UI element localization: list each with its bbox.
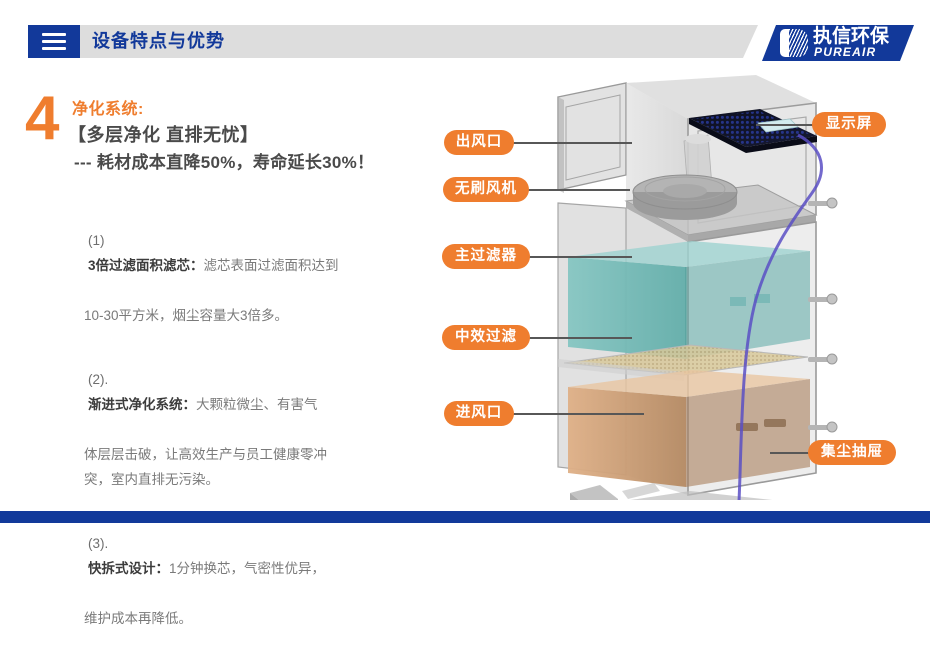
footer-bar [0, 511, 930, 523]
headline-primary: 【多层净化 直排无忧】 [68, 121, 259, 147]
product-diagram: 出风口 无刷风机 主过滤器 中效过滤 进风口 显示屏 集尘抽屉 [440, 75, 930, 500]
open-door-panel [558, 83, 626, 193]
list-item: (1) 3倍过滤面积滤芯：滤芯表面过滤面积达到 10-30平方米，烟尘容量大3倍… [58, 203, 428, 328]
main-filter-box [568, 241, 810, 359]
bullet-bold: 3倍过滤面积滤芯： [88, 258, 204, 273]
upper-chamber [626, 75, 816, 242]
bullet-cont-2: 突，室内直排无污染。 [58, 467, 428, 492]
connector-line-mid-filter [522, 337, 632, 339]
list-item: (3). 快拆式设计：1分钟换芯，气密性优异， 维护成本再降低。 [58, 506, 428, 631]
headline-secondary: --- 耗材成本直降50%，寿命延长30%！ [74, 148, 374, 173]
mid-efficiency-filter-box [568, 370, 810, 487]
page-title: 设备特点与优势 [92, 25, 225, 58]
callout-dust-drawer[interactable]: 集尘抽屉 [808, 440, 896, 465]
connector-line-drawer [770, 452, 812, 454]
callout-main-filter[interactable]: 主过滤器 [442, 244, 530, 269]
section-subtitle: 净化系统: [72, 95, 144, 119]
bullet-cont: 体层层击破，让高效生产与员工健康零冲 [58, 442, 428, 467]
callout-air-outlet[interactable]: 出风口 [444, 130, 514, 155]
bullet-index: (1) [88, 233, 105, 248]
bullet-rest: 滤芯表面过滤面积达到 [204, 258, 339, 273]
hamburger-menu-icon[interactable] [28, 25, 80, 58]
connector-line-display [756, 124, 818, 126]
bullet-index: (2). [88, 372, 108, 387]
callout-mid-filter[interactable]: 中效过滤 [442, 325, 530, 350]
connector-line-main-filter [522, 256, 632, 258]
bullet-cont: 10-30平方米，烟尘容量大3倍多。 [58, 303, 428, 328]
callout-display-screen[interactable]: 显示屏 [812, 112, 886, 137]
air-inlet-duct [570, 483, 660, 500]
callout-air-inlet[interactable]: 进风口 [444, 401, 514, 426]
bullet-list: (1) 3倍过滤面积滤芯：滤芯表面过滤面积达到 10-30平方米，烟尘容量大3倍… [58, 203, 428, 645]
connector-line-blower [520, 189, 630, 191]
slide-root: 设备特点与优势 执信环保 PUREAIR 4 净化系统: 【多层净化 直排无忧】… [0, 0, 930, 523]
logo-english-text: PUREAIR [814, 46, 876, 59]
list-item: (2). 渐进式净化系统：大颗粒微尘、有害气 体层层击破，让高效生产与员工健康零… [58, 342, 428, 492]
bullet-index: (3). [88, 536, 108, 551]
pureair-p-swirl-icon [780, 29, 808, 57]
bullet-rest: 1分钟换芯，气密性优异， [169, 561, 325, 576]
connector-line-outlet [512, 142, 632, 144]
callout-brushless-fan[interactable]: 无刷风机 [443, 177, 529, 202]
section-number: 4 [25, 88, 59, 150]
bullet-bold: 快拆式设计： [88, 561, 169, 576]
bullet-rest: 大颗粒微尘、有害气 [196, 397, 318, 412]
connector-line-inlet [512, 413, 644, 415]
logo-chinese-text: 执信环保 [813, 26, 889, 47]
bullet-bold: 渐进式净化系统： [88, 397, 196, 412]
bullet-cont: 维护成本再降低。 [58, 606, 428, 631]
